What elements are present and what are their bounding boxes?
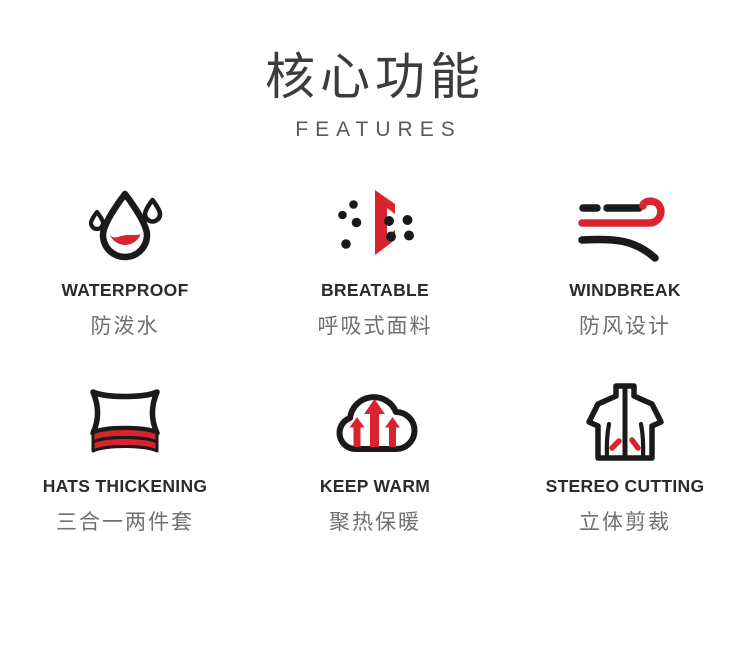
feature-label-en: KEEP WARM — [320, 476, 430, 497]
features-grid: WATERPROOF 防泼水 BREATABLE 呼吸式面料 — [0, 176, 750, 576]
feature-label-cn: 防泼水 — [91, 313, 160, 339]
feature-label-cn: 呼吸式面料 — [318, 313, 433, 339]
icon-wrap-hats-thickening — [79, 376, 171, 468]
water-drop-icon — [79, 178, 171, 270]
feature-label-en: STEREO CUTTING — [546, 476, 705, 497]
page-title-cn: 核心功能 — [265, 48, 485, 106]
icon-wrap-breathable — [329, 176, 421, 272]
feature-keep-warm: KEEP WARM 聚热保暖 — [250, 376, 500, 576]
cloud-heat-arrows-icon — [326, 381, 424, 463]
breathable-fabric-icon — [329, 178, 421, 270]
feature-label-cn: 聚热保暖 — [329, 509, 421, 535]
cushion-thickening-icon — [79, 378, 171, 466]
feature-waterproof: WATERPROOF 防泼水 — [0, 176, 250, 376]
feature-breathable: BREATABLE 呼吸式面料 — [250, 176, 500, 376]
features-page: 核心功能 FEATURES WATERPROOF 防泼水 — [0, 0, 750, 646]
page-title-en: FEATURES — [265, 118, 485, 142]
feature-stereo-cutting: STEREO CUTTING 立体剪裁 — [500, 376, 750, 576]
jacket-icon — [579, 378, 671, 466]
feature-label-en: WATERPROOF — [61, 280, 188, 301]
feature-windbreak: WINDBREAK 防风设计 — [500, 176, 750, 376]
feature-label-cn: 立体剪裁 — [579, 509, 671, 535]
feature-label-en: HATS THICKENING — [43, 476, 208, 497]
feature-label-en: BREATABLE — [321, 280, 429, 301]
icon-wrap-windbreak — [573, 176, 677, 272]
wind-lines-icon — [573, 178, 677, 270]
icon-wrap-keep-warm — [326, 376, 424, 468]
icon-wrap-waterproof — [79, 176, 171, 272]
page-header: 核心功能 FEATURES — [265, 48, 485, 142]
feature-label-en: WINDBREAK — [569, 280, 681, 301]
feature-label-cn: 三合一两件套 — [56, 509, 194, 535]
feature-hats-thickening: HATS THICKENING 三合一两件套 — [0, 376, 250, 576]
icon-wrap-stereo-cutting — [579, 376, 671, 468]
feature-label-cn: 防风设计 — [579, 313, 671, 339]
